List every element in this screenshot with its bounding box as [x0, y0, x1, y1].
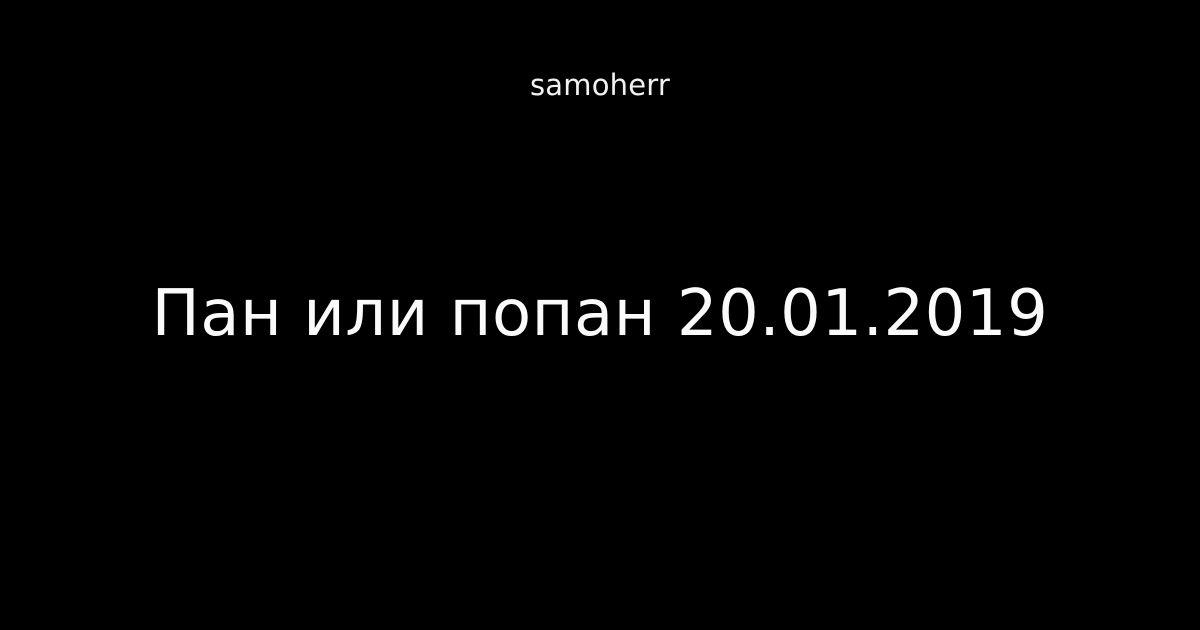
channel-header: samoherr	[0, 0, 1200, 160]
page-title: Пан или попан 20.01.2019	[152, 278, 1049, 352]
video-title-card: samoherr Пан или попан 20.01.2019	[0, 0, 1200, 630]
channel-name[interactable]: samoherr	[530, 70, 670, 102]
